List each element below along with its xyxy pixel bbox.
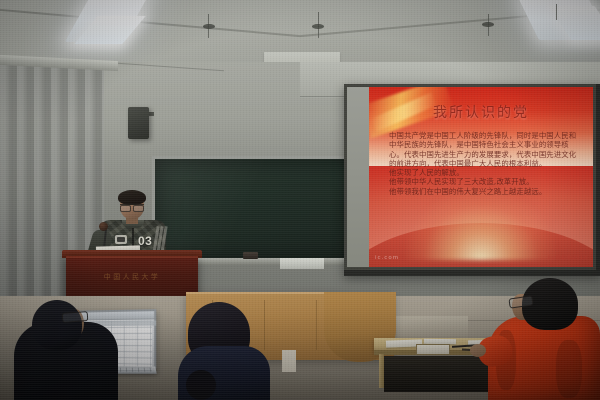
blackboard-sheen [155,159,363,262]
classroom-photo: 我所认识的党 中国共产党是中国工人阶级的先锋队，同时是中国人民和中华民族的先锋队… [0,0,600,400]
chalk-box[interactable] [280,258,324,269]
slide-paragraph: 中国共产党是中国工人阶级的先锋队，同时是中国人民和中华民族的先锋队，是中国特色社… [389,131,577,168]
ceiling-hanger-cap [482,22,494,27]
jacket-number: 03 [138,234,152,248]
slide-watermark-left: ic.com [375,255,399,261]
slide-paragraph: 他带领我们在中国的伟大复兴之路上越走越远。 [389,187,577,196]
blackboard [152,156,366,262]
ceiling-hanger-cap [312,24,324,29]
slide-watermark-right: By杨毅敏2014 [548,255,588,261]
student-head-foreground [186,370,216,400]
stage-step-upper [394,316,468,338]
podium-label: 中国人民大学 [66,272,198,282]
glasses-icon [62,311,89,323]
slide-paragraph: 他实现了人民的解放。 [389,168,577,177]
platform-paper-card [282,350,296,372]
ceiling-hanger-cap [203,24,215,29]
projected-slide: 我所认识的党 中国共产党是中国工人阶级的先锋队，同时是中国人民和中华民族的先锋队… [369,87,593,267]
desk-book[interactable] [416,344,450,355]
microphone-icon [99,222,108,231]
desk-leg [379,354,384,388]
slide-body: 中国共产党是中国工人阶级的先锋队，同时是中国人民和中华民族的先锋队，是中国特色社… [389,131,577,196]
slide-paragraph: 他带领中华人民实现了三大改造,改革开放。 [389,177,577,186]
projection-screen-margin [347,87,369,267]
student-hair [32,300,82,350]
glasses-icon [120,204,144,210]
blackboard-eraser[interactable] [243,252,258,259]
jacket-fold [556,340,582,398]
slide-sun-glow [406,190,556,260]
jacket-logo-patch [115,235,127,244]
slide-title: 我所认识的党 [369,102,593,122]
platform-panel [264,300,317,350]
wall-speaker [128,107,149,139]
presenter-hair [118,190,146,205]
ceiling-hanger-rod [556,4,557,20]
student-hand [470,344,486,357]
